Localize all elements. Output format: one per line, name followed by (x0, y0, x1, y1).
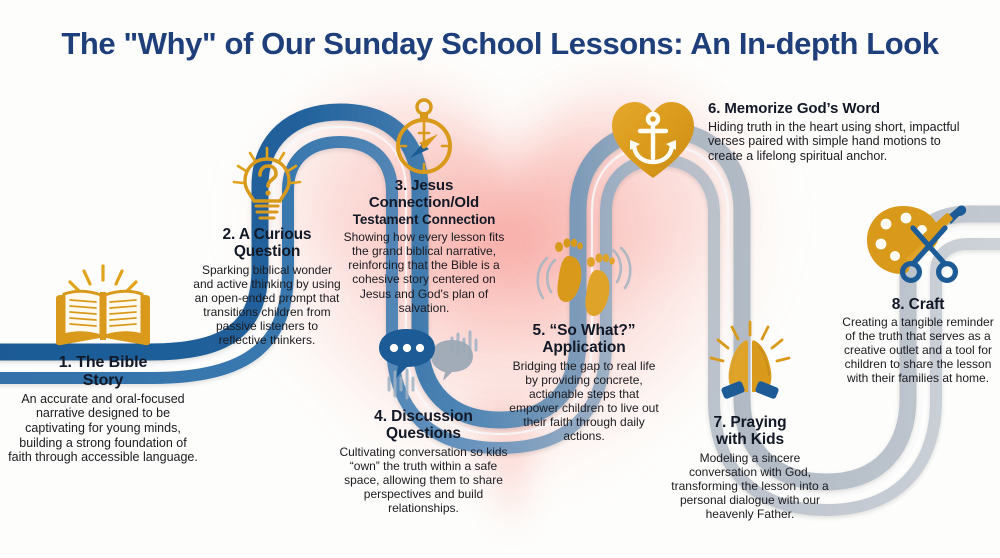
step-4-title-line2: Questions (386, 425, 461, 442)
open-book-icon (48, 262, 158, 352)
step-2-a-curious-question[interactable]: 2. A Curious Question Sparking biblical … (192, 146, 342, 347)
step-6-memorize-gods-word[interactable]: 6. Memorize God’s Word Hiding truth in t… (608, 96, 970, 182)
step-1-title: 1. The Bible Story (8, 354, 198, 390)
step-5-so-what-application[interactable]: 5. “So What?” Application Bridging the g… (508, 234, 660, 443)
step-7-title-line2: with Kids (716, 431, 784, 448)
step-1-title-line1: 1. The Bible (59, 354, 148, 371)
step-3-description: Showing how every lesson fits the grand … (340, 230, 508, 314)
palette-scissors-icon (861, 198, 976, 294)
step-2-title: 2. A Curious Question (192, 226, 342, 261)
step-5-title-line1: 5. “So What?” (533, 322, 636, 339)
infographic-canvas: The "Why" of Our Sunday School Lessons: … (0, 0, 1000, 558)
step-7-title: 7. Praying with Kids (670, 414, 830, 449)
step-1-title-line2: Story (83, 372, 123, 389)
step-4-discussion-questions[interactable]: 4. Discussion Questions Cultivating conv… (336, 326, 511, 515)
step-4-title-line1: 4. Discussion (374, 408, 473, 425)
step-8-description: Creating a tangible reminder of the trut… (842, 315, 994, 385)
praying-hands-icon (702, 320, 798, 412)
step-3-title-line1: 3. Jesus (395, 177, 453, 194)
step-1-the-bible-story[interactable]: 1. The Bible Story An accurate and oral-… (8, 262, 198, 465)
step-5-title-line2: Application (542, 339, 625, 356)
step-2-title-line2: Question (234, 243, 300, 260)
step-3-title-line3: Testament Connection (353, 212, 496, 227)
step-7-title-line1: 7. Praying (713, 414, 786, 431)
step-4-title: 4. Discussion Questions (336, 408, 511, 443)
step-1-description: An accurate and oral-focused narrative d… (8, 392, 198, 465)
step-7-description: Modeling a sincere conversation with God… (670, 451, 830, 521)
lightbulb-question-icon (227, 146, 307, 224)
step-5-description: Bridging the gap to real life by providi… (508, 359, 660, 443)
speech-bubbles-icon (369, 326, 479, 406)
step-2-description: Sparking biblical wonder and active thin… (192, 263, 342, 347)
step-5-title: 5. “So What?” Application (508, 322, 660, 357)
heart-anchor-icon (608, 96, 698, 182)
step-6-title: 6. Memorize God’s Word (708, 101, 970, 118)
step-2-title-line1: 2. A Curious (223, 226, 312, 243)
step-7-praying-with-kids[interactable]: 7. Praying with Kids Modeling a sincere … (670, 320, 830, 521)
footprints-icon (529, 234, 639, 320)
step-4-description: Cultivating conversation so kids “own” t… (336, 445, 511, 515)
step-8-title: 8. Craft (842, 296, 994, 313)
step-3-title: 3. Jesus Connection/Old Testament Connec… (340, 178, 508, 228)
step-6-description: Hiding truth in the heart using short, i… (708, 120, 970, 164)
step-3-jesus-connection[interactable]: 3. Jesus Connection/Old Testament Connec… (340, 96, 508, 315)
compass-cross-icon (386, 96, 462, 176)
step-8-craft[interactable]: 8. Craft Creating a tangible reminder of… (842, 198, 994, 386)
page-title: The "Why" of Our Sunday School Lessons: … (0, 26, 1000, 62)
step-3-title-line2: Connection/Old (369, 194, 479, 211)
